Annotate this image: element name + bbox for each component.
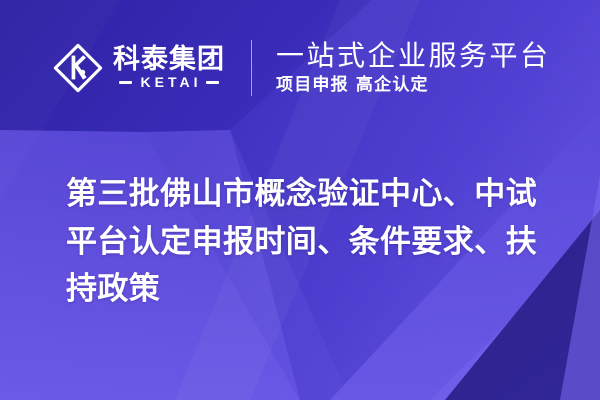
brand-wordmark: 科泰集团 KETAI [113,46,225,90]
slogan-primary: 一站式企业服务平台 [276,40,551,71]
slogan-secondary: 项目申报 高企认定 [276,76,551,95]
slogan: 一站式企业服务平台 项目申报 高企认定 [276,40,551,94]
page-title: 第三批佛山市概念验证中心、中试平台认定申报时间、条件要求、扶持政策 [66,171,558,314]
promo-banner: 科泰集团 KETAI 一站式企业服务平台 项目申报 高企认定 第三批佛山市概念验… [0,0,600,400]
brand-logo[interactable]: 科泰集团 KETAI [52,42,225,94]
brand-name-en: KETAI [137,75,202,89]
dash-icon [119,81,132,84]
ketai-diamond-kt-monogram-icon [52,42,104,94]
brand-name-en-row: KETAI [113,75,225,89]
header-divider [251,40,252,96]
banner-header: 科泰集团 KETAI 一站式企业服务平台 项目申报 高企认定 [0,0,600,135]
dash-icon [206,81,219,84]
brand-name-cn: 科泰集团 [113,46,225,74]
